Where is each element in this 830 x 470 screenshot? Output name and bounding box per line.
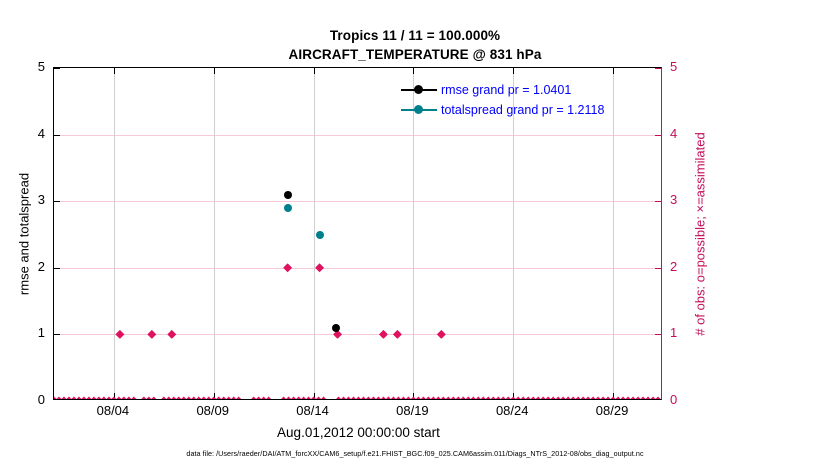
x-axis-ticklabel: 08/19: [377, 404, 447, 418]
legend-marker-rmse: [401, 89, 437, 91]
vertical-gridline: [114, 68, 115, 399]
y-axis-left-tick: [54, 268, 60, 269]
y-axis-right-ticklabel: 2: [670, 260, 704, 273]
obs-marker: [147, 330, 156, 339]
y-axis-left-title-text: rmse and totalspread: [17, 172, 32, 294]
legend-item-totalspread[interactable]: totalspread grand pr = 1.2118: [401, 100, 651, 120]
obs-marker: [283, 263, 292, 272]
y-axis-left-tick: [54, 135, 60, 136]
x-axis-tick-top: [513, 68, 514, 74]
y-axis-right-ticklabel: 1: [670, 326, 704, 339]
totalspread-point: [284, 204, 292, 212]
legend-label-rmse: rmse grand pr = 1.0401: [441, 80, 571, 100]
chart-title-line2: AIRCRAFT_TEMPERATURE @ 831 hPa: [0, 45, 830, 64]
rmse-point: [332, 324, 340, 332]
y-axis-right-ticklabel: 5: [670, 60, 704, 73]
horizontal-gridline: [54, 201, 661, 202]
obs-marker: [437, 330, 446, 339]
obs-marker: [167, 330, 176, 339]
x-axis-tick-top: [613, 68, 614, 74]
horizontal-gridline: [54, 268, 661, 269]
x-axis-ticklabel: 08/29: [577, 404, 647, 418]
totalspread-point: [316, 231, 324, 239]
chart-title: Tropics 11 / 11 = 100.000% AIRCRAFT_TEMP…: [0, 26, 830, 64]
horizontal-gridline: [54, 135, 661, 136]
legend: rmse grand pr = 1.0401 totalspread grand…: [401, 80, 651, 120]
figure-canvas: Tropics 11 / 11 = 100.000% AIRCRAFT_TEMP…: [0, 0, 830, 470]
x-axis-tick-top: [114, 68, 115, 74]
vertical-gridline: [314, 68, 315, 399]
x-axis-ticklabel: 08/14: [278, 404, 348, 418]
legend-item-rmse[interactable]: rmse grand pr = 1.0401: [401, 80, 651, 100]
x-axis-title: Aug.01,2012 00:00:00 start: [0, 425, 717, 440]
obs-marker: [115, 330, 124, 339]
x-axis-ticklabel: 08/04: [78, 404, 148, 418]
y-axis-left-tick: [54, 201, 60, 202]
vertical-gridline: [214, 68, 215, 399]
plot-area: rmse grand pr = 1.0401 totalspread grand…: [53, 67, 662, 400]
data-file-footer: data file: /Users/raeder/DAI/ATM_forcXX/…: [0, 449, 830, 458]
y-axis-left-tick: [54, 334, 60, 335]
y-axis-left-ticklabel: 5: [11, 60, 45, 73]
y-axis-right-tick: [655, 201, 661, 202]
y-axis-right-tick: [655, 268, 661, 269]
y-axis-left-ticklabel: 0: [11, 393, 45, 406]
rmse-point: [284, 191, 292, 199]
y-axis-left-ticklabel: 1: [11, 326, 45, 339]
y-axis-left-tick: [54, 68, 60, 69]
y-axis-right-ticklabel: 3: [670, 193, 704, 206]
y-axis-right-title: # of obs: o=possible; ×=assimilated: [690, 67, 710, 400]
x-axis-tick-top: [413, 68, 414, 74]
x-axis-tick-top: [214, 68, 215, 74]
y-axis-right-title-text: # of obs: o=possible; ×=assimilated: [693, 132, 708, 335]
y-axis-right-ticklabel: 4: [670, 127, 704, 140]
y-axis-right-tick: [655, 68, 661, 69]
y-axis-right-tick: [655, 135, 661, 136]
x-axis-tick-top: [314, 68, 315, 74]
y-axis-right-tick: [655, 334, 661, 335]
obs-marker: [393, 330, 402, 339]
obs-marker: [379, 330, 388, 339]
y-axis-left-ticklabel: 2: [11, 260, 45, 273]
chart-title-line1: Tropics 11 / 11 = 100.000%: [0, 26, 830, 45]
horizontal-gridline: [54, 334, 661, 335]
legend-marker-totalspread: [401, 109, 437, 111]
legend-label-totalspread: totalspread grand pr = 1.2118: [441, 100, 604, 120]
y-axis-left-title: rmse and totalspread: [14, 67, 34, 400]
x-axis-ticklabel: 08/24: [477, 404, 547, 418]
y-axis-left-ticklabel: 3: [11, 193, 45, 206]
obs-marker: [315, 263, 324, 272]
y-axis-right-ticklabel: 0: [670, 393, 704, 406]
y-axis-left-ticklabel: 4: [11, 127, 45, 140]
x-axis-ticklabel: 08/09: [178, 404, 248, 418]
